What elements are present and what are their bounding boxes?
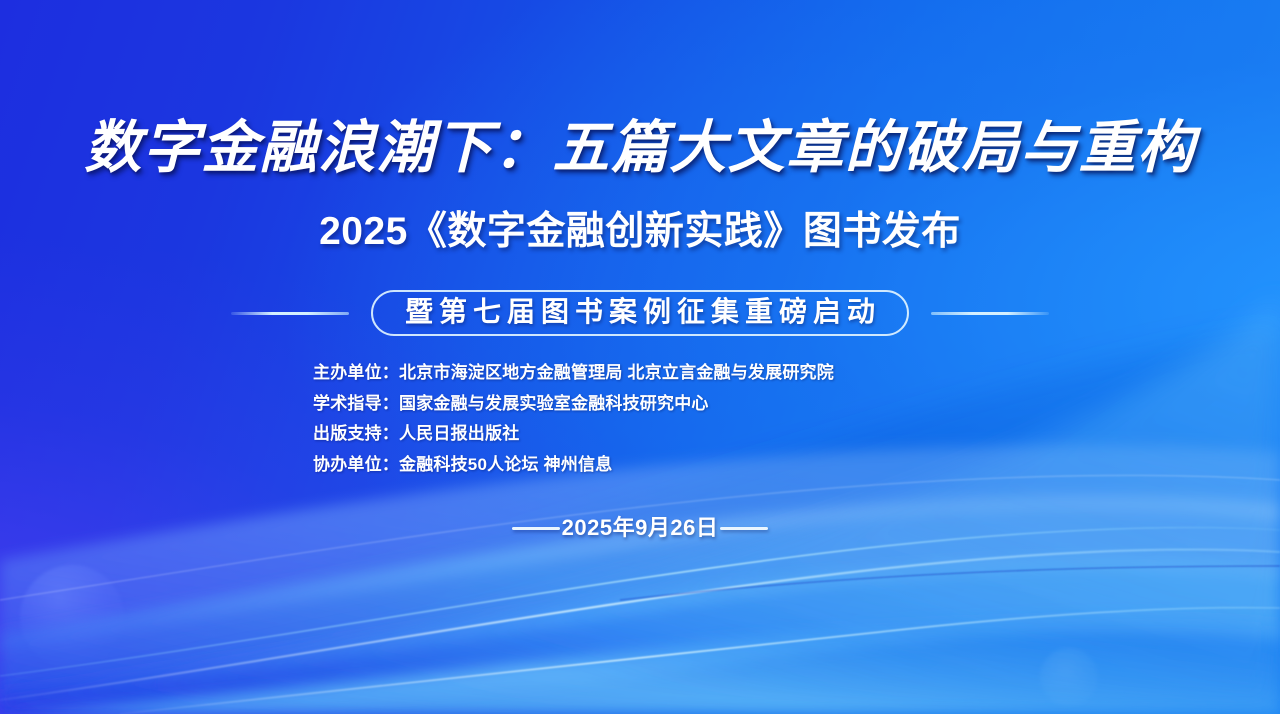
organizer-line-publishing-support: 出版支持：人民日报出版社 bbox=[313, 419, 1013, 450]
event-date: 2025年9月26日 bbox=[560, 514, 721, 542]
divider-rule-left bbox=[231, 312, 349, 315]
date-rule-right bbox=[720, 527, 768, 530]
organizer-line-host: 主办单位：北京市海淀区地方金融管理局 北京立言金融与发展研究院 bbox=[313, 358, 1013, 389]
divider-rule-right bbox=[931, 312, 1049, 315]
event-date-row: 2025年9月26日 bbox=[0, 514, 1280, 542]
highlight-pill: 暨第七届图书案例征集重磅启动 bbox=[371, 290, 909, 336]
page-title: 数字金融浪潮下：五篇大文章的破局与重构 bbox=[0, 112, 1280, 184]
organizer-list: 主办单位：北京市海淀区地方金融管理局 北京立言金融与发展研究院 学术指导：国家金… bbox=[313, 358, 1013, 480]
event-subtitle: 2025《数字金融创新实践》图书发布 bbox=[0, 208, 1280, 256]
organizer-line-co-organizer: 协办单位：金融科技50人论坛 神州信息 bbox=[313, 450, 1013, 481]
event-banner: 数字金融浪潮下：五篇大文章的破局与重构 2025《数字金融创新实践》图书发布 暨… bbox=[0, 0, 1280, 714]
highlight-pill-label: 暨第七届图书案例征集重磅启动 bbox=[399, 296, 881, 328]
date-rule-left bbox=[512, 527, 560, 530]
organizer-line-academic-guidance: 学术指导：国家金融与发展实验室金融科技研究中心 bbox=[313, 389, 1013, 420]
pill-headline-row: 暨第七届图书案例征集重磅启动 bbox=[0, 289, 1280, 337]
